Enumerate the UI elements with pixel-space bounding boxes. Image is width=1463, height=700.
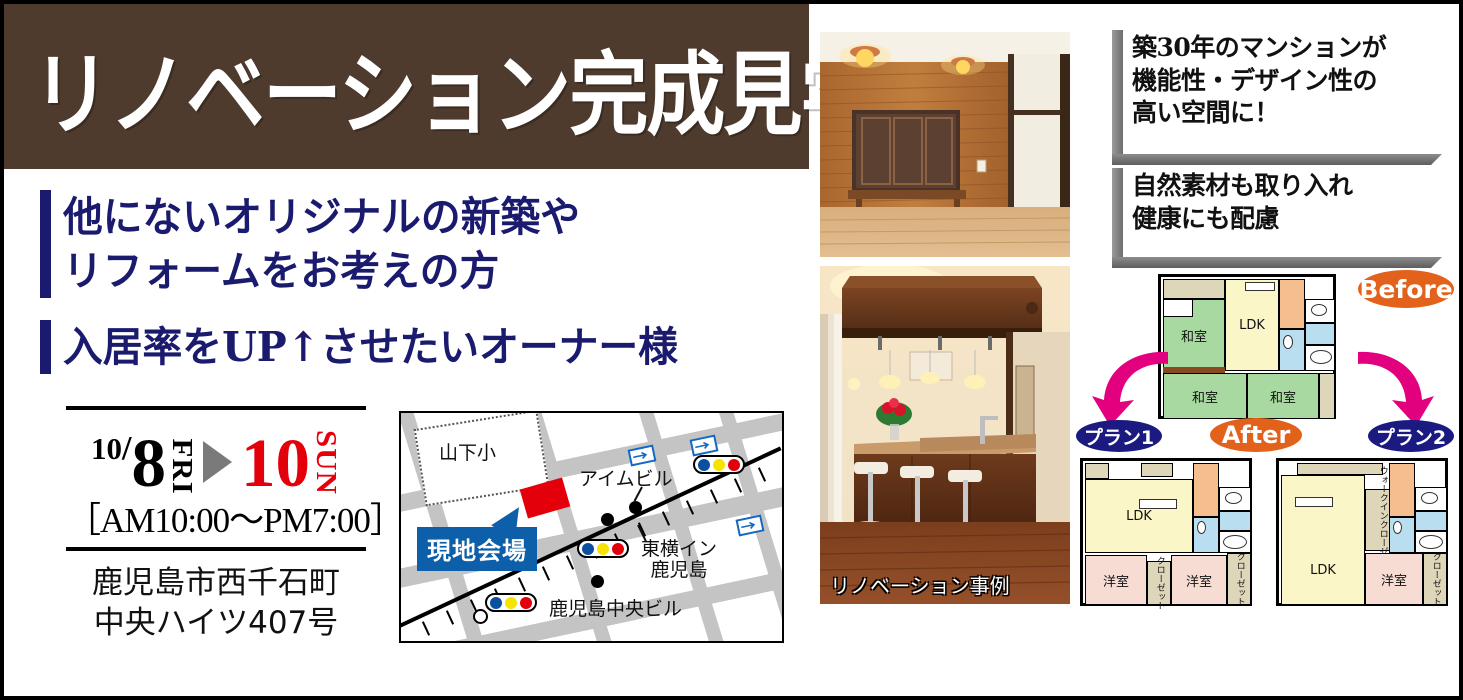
photo-caption: リノベーション事例 bbox=[830, 570, 1010, 599]
map-rail-tie bbox=[446, 610, 454, 624]
floorplan-room bbox=[1163, 279, 1225, 299]
map-venue-label[interactable]: 現地会場 bbox=[417, 527, 537, 571]
floorplan-room: LDK bbox=[1085, 479, 1193, 553]
feature-callout-2: 自然素材も取り入れ 健康にも配慮 bbox=[1112, 168, 1442, 268]
floorplan-before[interactable]: 和室 LDK 和室 和室 bbox=[1158, 274, 1336, 419]
floorplan-bath bbox=[1305, 323, 1335, 345]
signal-blue-icon bbox=[698, 459, 710, 471]
floorplan-room: LDK bbox=[1225, 279, 1279, 371]
floorplan-closet bbox=[1141, 463, 1173, 477]
floorplan-closet: クローゼット bbox=[1147, 561, 1171, 605]
floorplan-room-label: 和室 bbox=[1181, 326, 1207, 345]
event-hours: ［AM10:00〜PM7:00］ bbox=[66, 492, 366, 543]
bathtub-icon bbox=[1419, 535, 1443, 549]
kitchen-counter-icon bbox=[1245, 282, 1275, 291]
event-date-line: 10 / 8 FRI 10 SUN bbox=[66, 416, 366, 494]
event-end-dow: SUN bbox=[311, 430, 339, 495]
toilet-icon bbox=[1311, 304, 1327, 316]
floorplan-entry bbox=[1389, 463, 1415, 517]
map-rail-tie bbox=[542, 566, 550, 580]
floorplan-closet: クローゼット bbox=[1423, 553, 1447, 605]
headline-line-1: 他にないオリジナルの新築や bbox=[63, 190, 580, 244]
floorplan-room: 和室 bbox=[1247, 373, 1319, 419]
callout-text: 築30年のマンションが 機能性・デザイン性の 高い空間に！ bbox=[1132, 30, 1442, 130]
floorplan-bath bbox=[1219, 511, 1251, 531]
badge-after: After bbox=[1210, 418, 1302, 452]
signal-red-icon bbox=[612, 543, 624, 555]
map-traffic-signal bbox=[485, 593, 537, 612]
event-slash: / bbox=[122, 432, 131, 466]
floorplan-bath bbox=[1193, 517, 1219, 553]
address-line-2: 中央ハイツ407号 bbox=[66, 604, 366, 644]
floorplan-closet bbox=[1085, 463, 1109, 479]
arrow-to-plan2-icon bbox=[1350, 344, 1436, 430]
map-rail-tie bbox=[758, 467, 766, 481]
sink-icon bbox=[1197, 521, 1206, 534]
floorplan-entry bbox=[1279, 279, 1305, 329]
floorplan-bath bbox=[1415, 511, 1447, 531]
event-start-dow: FRI bbox=[167, 438, 195, 494]
floorplan-room: 洋室 bbox=[1171, 555, 1227, 605]
kitchen-counter-icon bbox=[1139, 499, 1177, 509]
map-label-building-1: アイムビル bbox=[579, 469, 673, 490]
headline-group: 他にないオリジナルの新築や リフォームをお考えの方 入居率をUP↑させたいオーナ… bbox=[40, 190, 800, 374]
kitchen-counter-icon bbox=[1295, 497, 1333, 507]
toilet-icon bbox=[1421, 492, 1438, 504]
map-building-dot bbox=[591, 575, 604, 588]
map-building-dot bbox=[601, 513, 614, 526]
map-traffic-signal bbox=[693, 455, 745, 474]
sink-icon bbox=[1393, 521, 1402, 534]
headline-accent-bar bbox=[40, 190, 51, 298]
floorplan-room-label: 和室 bbox=[1192, 387, 1218, 406]
address-line-1: 鹿児島市西千石町 bbox=[66, 564, 366, 604]
bathtub-icon bbox=[1223, 535, 1247, 549]
floorplan-bath bbox=[1389, 517, 1415, 553]
photo-renovated-room bbox=[820, 32, 1070, 257]
event-date-block: 10 / 8 FRI 10 SUN ［AM10:00〜PM7:00］ bbox=[66, 406, 366, 551]
header-bar: リノベーション完成見学会 bbox=[4, 4, 809, 169]
floorplan-plan2[interactable]: LDK ウォークインクローゼット 洋室 クローゼット bbox=[1276, 458, 1448, 606]
badge-plan2: プラン2 bbox=[1368, 420, 1454, 452]
event-end-day: 10 bbox=[241, 433, 310, 494]
map-station-dot bbox=[473, 609, 488, 624]
floorplan-bath bbox=[1279, 329, 1305, 371]
callout-frame-bottom bbox=[1112, 154, 1442, 165]
signal-blue-icon bbox=[582, 543, 594, 555]
floorplan-room-label: 和室 bbox=[1270, 387, 1296, 406]
floorplan-closet bbox=[1297, 463, 1383, 475]
map-label-building-3: 鹿児島中央ビル bbox=[549, 599, 682, 620]
floorplan-room-label: クローゼット bbox=[1430, 552, 1439, 606]
event-start-day: 8 bbox=[131, 433, 166, 494]
oneway-right-arrow-icon bbox=[628, 444, 657, 466]
bathtub-icon bbox=[1310, 350, 1332, 364]
venue-address: 鹿児島市西千石町 中央ハイツ407号 bbox=[66, 564, 366, 643]
map-label-building-2: 東横イン 鹿児島 bbox=[641, 539, 717, 582]
signal-red-icon bbox=[520, 597, 532, 609]
callout-text: 自然素材も取り入れ 健康にも配慮 bbox=[1132, 168, 1442, 235]
map-label-school: 山下小 bbox=[439, 438, 496, 465]
headline-text-block: 他にないオリジナルの新築や リフォームをお考えの方 bbox=[63, 190, 596, 298]
floorplan-room-label: クローゼット bbox=[1234, 552, 1243, 606]
badge-plan1: プラン1 bbox=[1076, 420, 1162, 452]
headline-item-1: 他にないオリジナルの新築や リフォームをお考えの方 bbox=[40, 190, 800, 298]
event-month: 10 bbox=[91, 433, 122, 464]
oneway-right-arrow-icon bbox=[690, 434, 719, 456]
sink-icon bbox=[1283, 335, 1293, 349]
map-building-dot bbox=[629, 501, 642, 514]
floorplan-closet: クローゼット bbox=[1227, 553, 1251, 605]
headline-line-3: 入居率をUP↑させたいオーナー様 bbox=[63, 320, 678, 374]
page-title: リノベーション完成見学会 bbox=[32, 21, 954, 152]
flyer-root: リノベーション完成見学会 他にないオリジナルの新築や リフォームをお考えの方 入… bbox=[0, 0, 1463, 700]
floorplan-room-label: 洋室 bbox=[1381, 570, 1407, 589]
floorplan-group: 和室 LDK 和室 和室 Before bbox=[1074, 262, 1459, 632]
headline-accent-bar bbox=[40, 320, 51, 374]
signal-red-icon bbox=[728, 459, 740, 471]
floorplan-closet bbox=[1319, 373, 1335, 419]
badge-before: Before bbox=[1358, 270, 1454, 308]
floorplan-room: 洋室 bbox=[1085, 555, 1147, 605]
floorplan-entry bbox=[1193, 463, 1219, 517]
floorplan-room-label: 洋室 bbox=[1186, 571, 1212, 590]
feature-callout-1: 築30年のマンションが 機能性・デザイン性の 高い空間に！ bbox=[1112, 30, 1442, 165]
floorplan-room-label: LDK bbox=[1239, 318, 1265, 333]
headline-line-2: リフォームをお考えの方 bbox=[63, 244, 580, 298]
ceiling-light-icon bbox=[941, 55, 985, 75]
location-map[interactable]: 山下小 現地会場 bbox=[399, 411, 784, 643]
ceiling-light-icon bbox=[839, 44, 891, 68]
arrow-to-plan1-icon bbox=[1090, 344, 1176, 430]
floorplan-room-label: LDK bbox=[1310, 563, 1336, 578]
floorplan-room-label: LDK bbox=[1126, 509, 1152, 524]
map-traffic-signal bbox=[577, 539, 629, 558]
toilet-icon bbox=[1225, 492, 1242, 504]
map-rail-tie bbox=[422, 621, 430, 635]
floorplan-partition bbox=[1163, 299, 1193, 317]
floorplan-room: LDK bbox=[1281, 475, 1365, 605]
signal-yellow-icon bbox=[713, 459, 725, 471]
headline-item-2: 入居率をUP↑させたいオーナー様 bbox=[40, 320, 800, 374]
floorplan-room-label: クローゼット bbox=[1154, 556, 1163, 610]
floorplan-room-label: 洋室 bbox=[1103, 571, 1129, 590]
headline-text-block: 入居率をUP↑させたいオーナー様 bbox=[63, 320, 697, 374]
callout-frame-left bbox=[1112, 168, 1123, 257]
floorplan-plan1[interactable]: LDK 洋室 クローゼット 洋室 クローゼット bbox=[1080, 458, 1252, 606]
floorplan-room: 洋室 bbox=[1365, 553, 1423, 605]
signal-yellow-icon bbox=[505, 597, 517, 609]
date-range-arrow-icon bbox=[203, 441, 232, 483]
callout-frame-left bbox=[1112, 30, 1123, 154]
signal-yellow-icon bbox=[597, 543, 609, 555]
photo-renovated-kitchen bbox=[820, 266, 1070, 604]
map-rail-tie bbox=[518, 577, 526, 591]
signal-blue-icon bbox=[490, 597, 502, 609]
